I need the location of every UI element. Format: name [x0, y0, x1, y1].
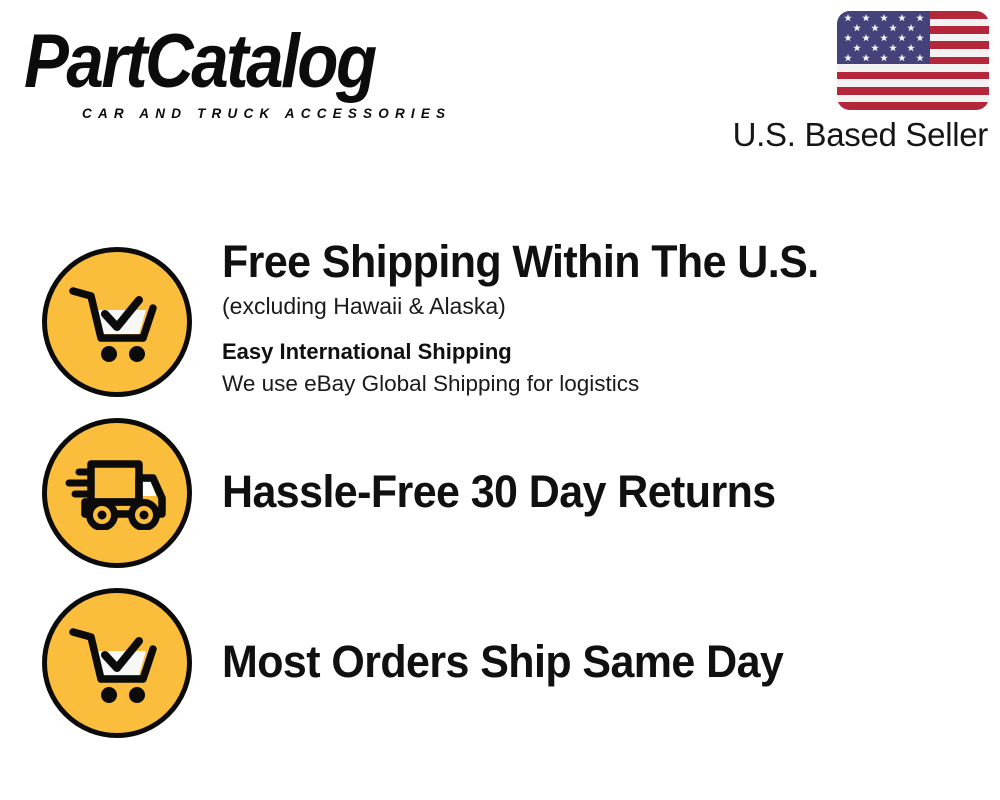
brand-tagline: CAR AND TRUCK ACCESSORIES [82, 106, 451, 121]
shopping-cart-check-icon [67, 280, 167, 364]
flag-stripe [837, 87, 989, 95]
us-flag-icon [837, 11, 989, 110]
delivery-truck-icon [65, 456, 169, 530]
feature-badge [42, 247, 192, 397]
flag-stripe [837, 95, 989, 103]
feature-row: Free Shipping Within The U.S. (excluding… [0, 234, 1000, 414]
flag-stripe [837, 72, 989, 80]
feature-secondary-text: We use eBay Global Shipping for logistic… [222, 368, 962, 400]
flag-stripe [837, 102, 989, 110]
feature-subtitle: (excluding Hawaii & Alaska) [222, 290, 962, 322]
page-header: PartCatalog CAR AND TRUCK ACCESSORIES [0, 0, 1000, 165]
feature-row: Most Orders Ship Same Day [0, 588, 1000, 744]
us-based-seller-label: U.S. Based Seller [733, 116, 988, 154]
feature-badge [42, 588, 192, 738]
feature-title: Free Shipping Within The U.S. [222, 236, 929, 288]
feature-badge [42, 418, 192, 568]
feature-row: Hassle-Free 30 Day Returns [0, 418, 1000, 573]
brand-wordmark: PartCatalog [24, 22, 375, 100]
brand-logo[interactable]: PartCatalog CAR AND TRUCK ACCESSORIES [24, 22, 494, 112]
feature-title: Most Orders Ship Same Day [222, 636, 929, 688]
feature-text-block: Hassle-Free 30 Day Returns [222, 466, 962, 518]
feature-text-block: Free Shipping Within The U.S. (excluding… [222, 236, 962, 400]
flag-canton [837, 11, 930, 64]
flag-stars [837, 11, 930, 65]
shopping-cart-check-icon [67, 621, 167, 705]
flag-stripe [837, 79, 989, 87]
flag-stripe [837, 64, 989, 72]
feature-text-block: Most Orders Ship Same Day [222, 636, 962, 688]
feature-secondary-title: Easy International Shipping [222, 336, 962, 368]
feature-title: Hassle-Free 30 Day Returns [222, 466, 929, 518]
